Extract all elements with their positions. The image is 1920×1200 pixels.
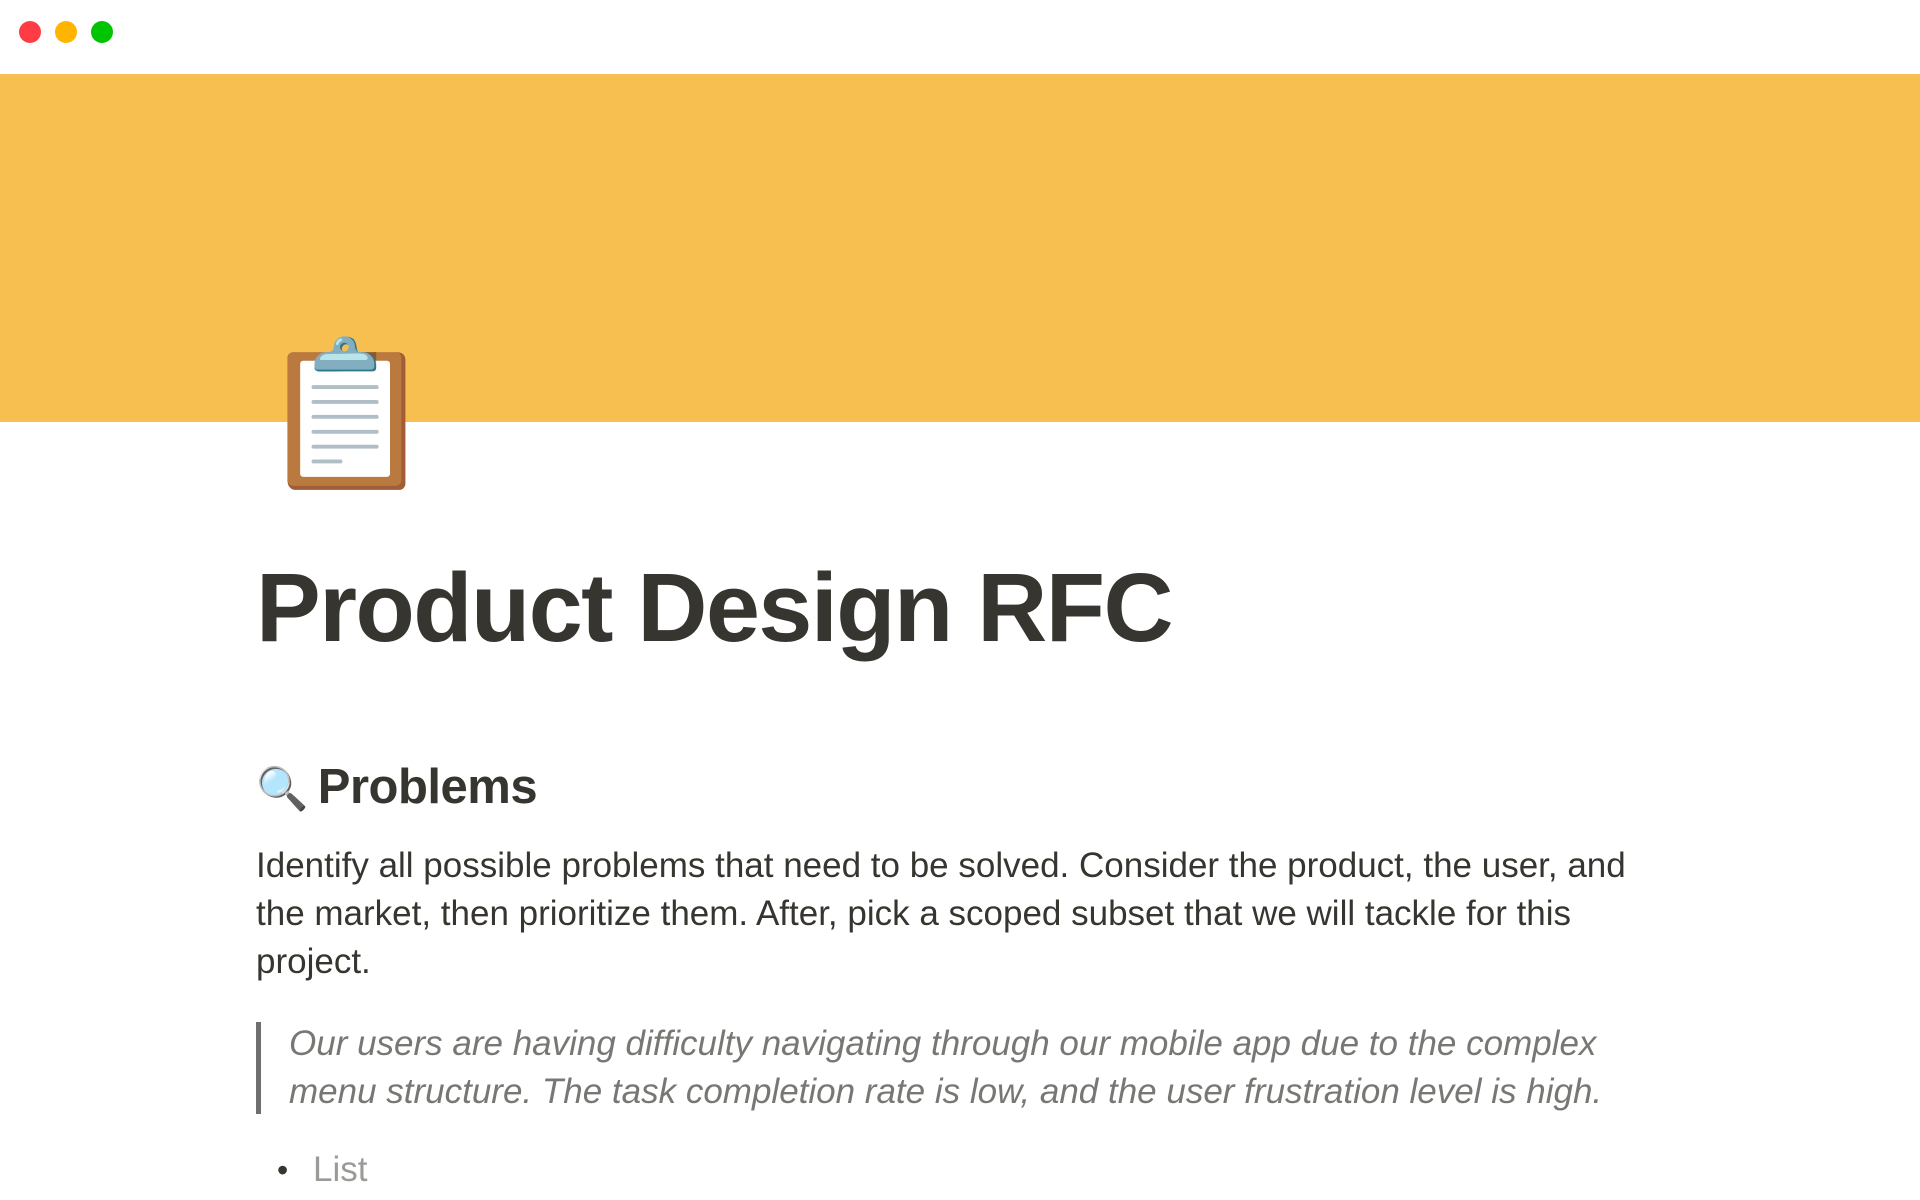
blockquote-text[interactable]: Our users are having difficulty navigati… — [289, 1020, 1664, 1116]
blockquote-block[interactable]: Our users are having difficulty navigati… — [256, 1020, 1664, 1116]
bullet-icon: • — [277, 1146, 313, 1194]
maximize-window-button[interactable] — [91, 21, 113, 43]
list-item-placeholder[interactable]: List — [313, 1146, 367, 1194]
blockquote-bar — [256, 1022, 261, 1114]
page-title[interactable]: Product Design RFC — [256, 557, 1664, 659]
traffic-light-group — [19, 21, 113, 43]
minimize-window-button[interactable] — [55, 21, 77, 43]
window-titlebar — [0, 0, 1920, 74]
section-heading-problems[interactable]: 🔍 Problems — [256, 757, 1664, 818]
document-body: Product Design RFC 🔍 Problems Identify a… — [0, 422, 1920, 1200]
close-window-button[interactable] — [19, 21, 41, 43]
section-paragraph[interactable]: Identify all possible problems that need… — [256, 842, 1664, 986]
magnifying-glass-icon: 🔍 — [256, 768, 308, 810]
bulleted-list: • List — [256, 1146, 1664, 1194]
list-item[interactable]: • List — [256, 1146, 1664, 1194]
clipboard-emoji-icon[interactable]: 📋 — [258, 330, 408, 500]
app-window: 📋 Product Design RFC 🔍 Problems Identify… — [0, 0, 1920, 1200]
section-heading-label: Problems — [318, 757, 537, 818]
